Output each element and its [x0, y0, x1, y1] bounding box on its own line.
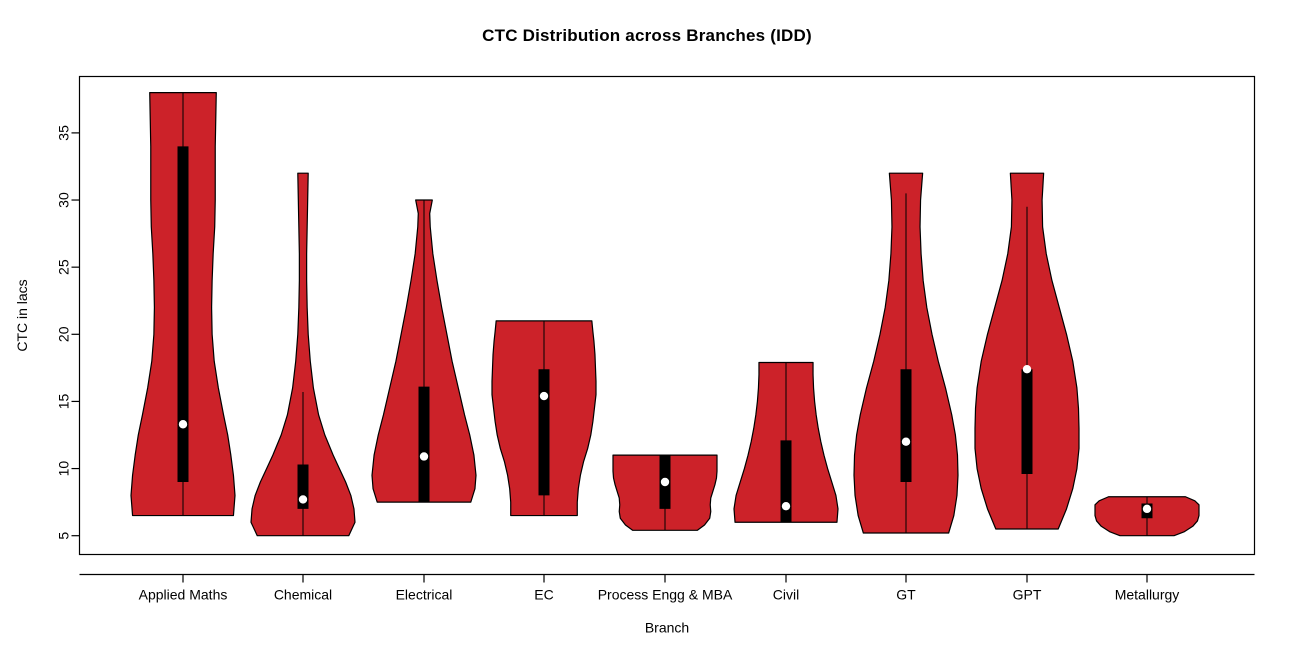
y-axis-tick-label: 30: [56, 192, 72, 208]
chart-canvas: CTC Distribution across Branches (IDD) 5…: [0, 0, 1294, 653]
violin-median-marker: [782, 502, 790, 510]
violin-plot: 5101520253035CTC in lacsApplied MathsChe…: [0, 0, 1294, 653]
y-axis-tick-label: 5: [56, 532, 72, 540]
violin-median-marker: [420, 452, 428, 460]
violin-median-marker: [1143, 505, 1151, 513]
x-axis-title: Branch: [645, 620, 689, 636]
violin-gpt: [975, 173, 1079, 529]
violin-median-marker: [299, 495, 307, 503]
violin-median-marker: [661, 478, 669, 486]
y-axis-tick-label: 35: [56, 125, 72, 141]
x-axis-tick-label: GT: [896, 587, 916, 603]
violin-civil: [734, 362, 838, 522]
x-axis-tick-label: Applied Maths: [139, 587, 228, 603]
x-axis-tick-label: Process Engg & MBA: [598, 587, 733, 603]
violin-metallurgy: [1095, 497, 1199, 536]
y-axis-tick-label: 25: [56, 259, 72, 275]
violin-chemical: [251, 173, 355, 536]
x-axis-tick-label: EC: [534, 587, 553, 603]
violin-process-engg-mba: [613, 455, 717, 530]
violin-median-marker: [902, 438, 910, 446]
x-axis-tick-label: GPT: [1013, 587, 1042, 603]
x-axis-tick-label: Electrical: [396, 587, 453, 603]
y-axis-tick-label: 15: [56, 393, 72, 409]
y-axis-tick-label: 10: [56, 461, 72, 477]
violin-median-marker: [179, 420, 187, 428]
violin-median-marker: [1023, 365, 1031, 373]
violin-electrical: [372, 200, 476, 502]
violin-median-marker: [540, 392, 548, 400]
y-axis-tick-label: 20: [56, 326, 72, 342]
violin-applied-maths: [131, 93, 235, 516]
y-axis-title: CTC in lacs: [14, 279, 30, 351]
x-axis-tick-label: Chemical: [274, 587, 332, 603]
violin-gt: [854, 173, 958, 533]
x-axis-tick-label: Metallurgy: [1115, 587, 1180, 603]
violin-ec: [492, 321, 596, 516]
x-axis-tick-label: Civil: [773, 587, 799, 603]
